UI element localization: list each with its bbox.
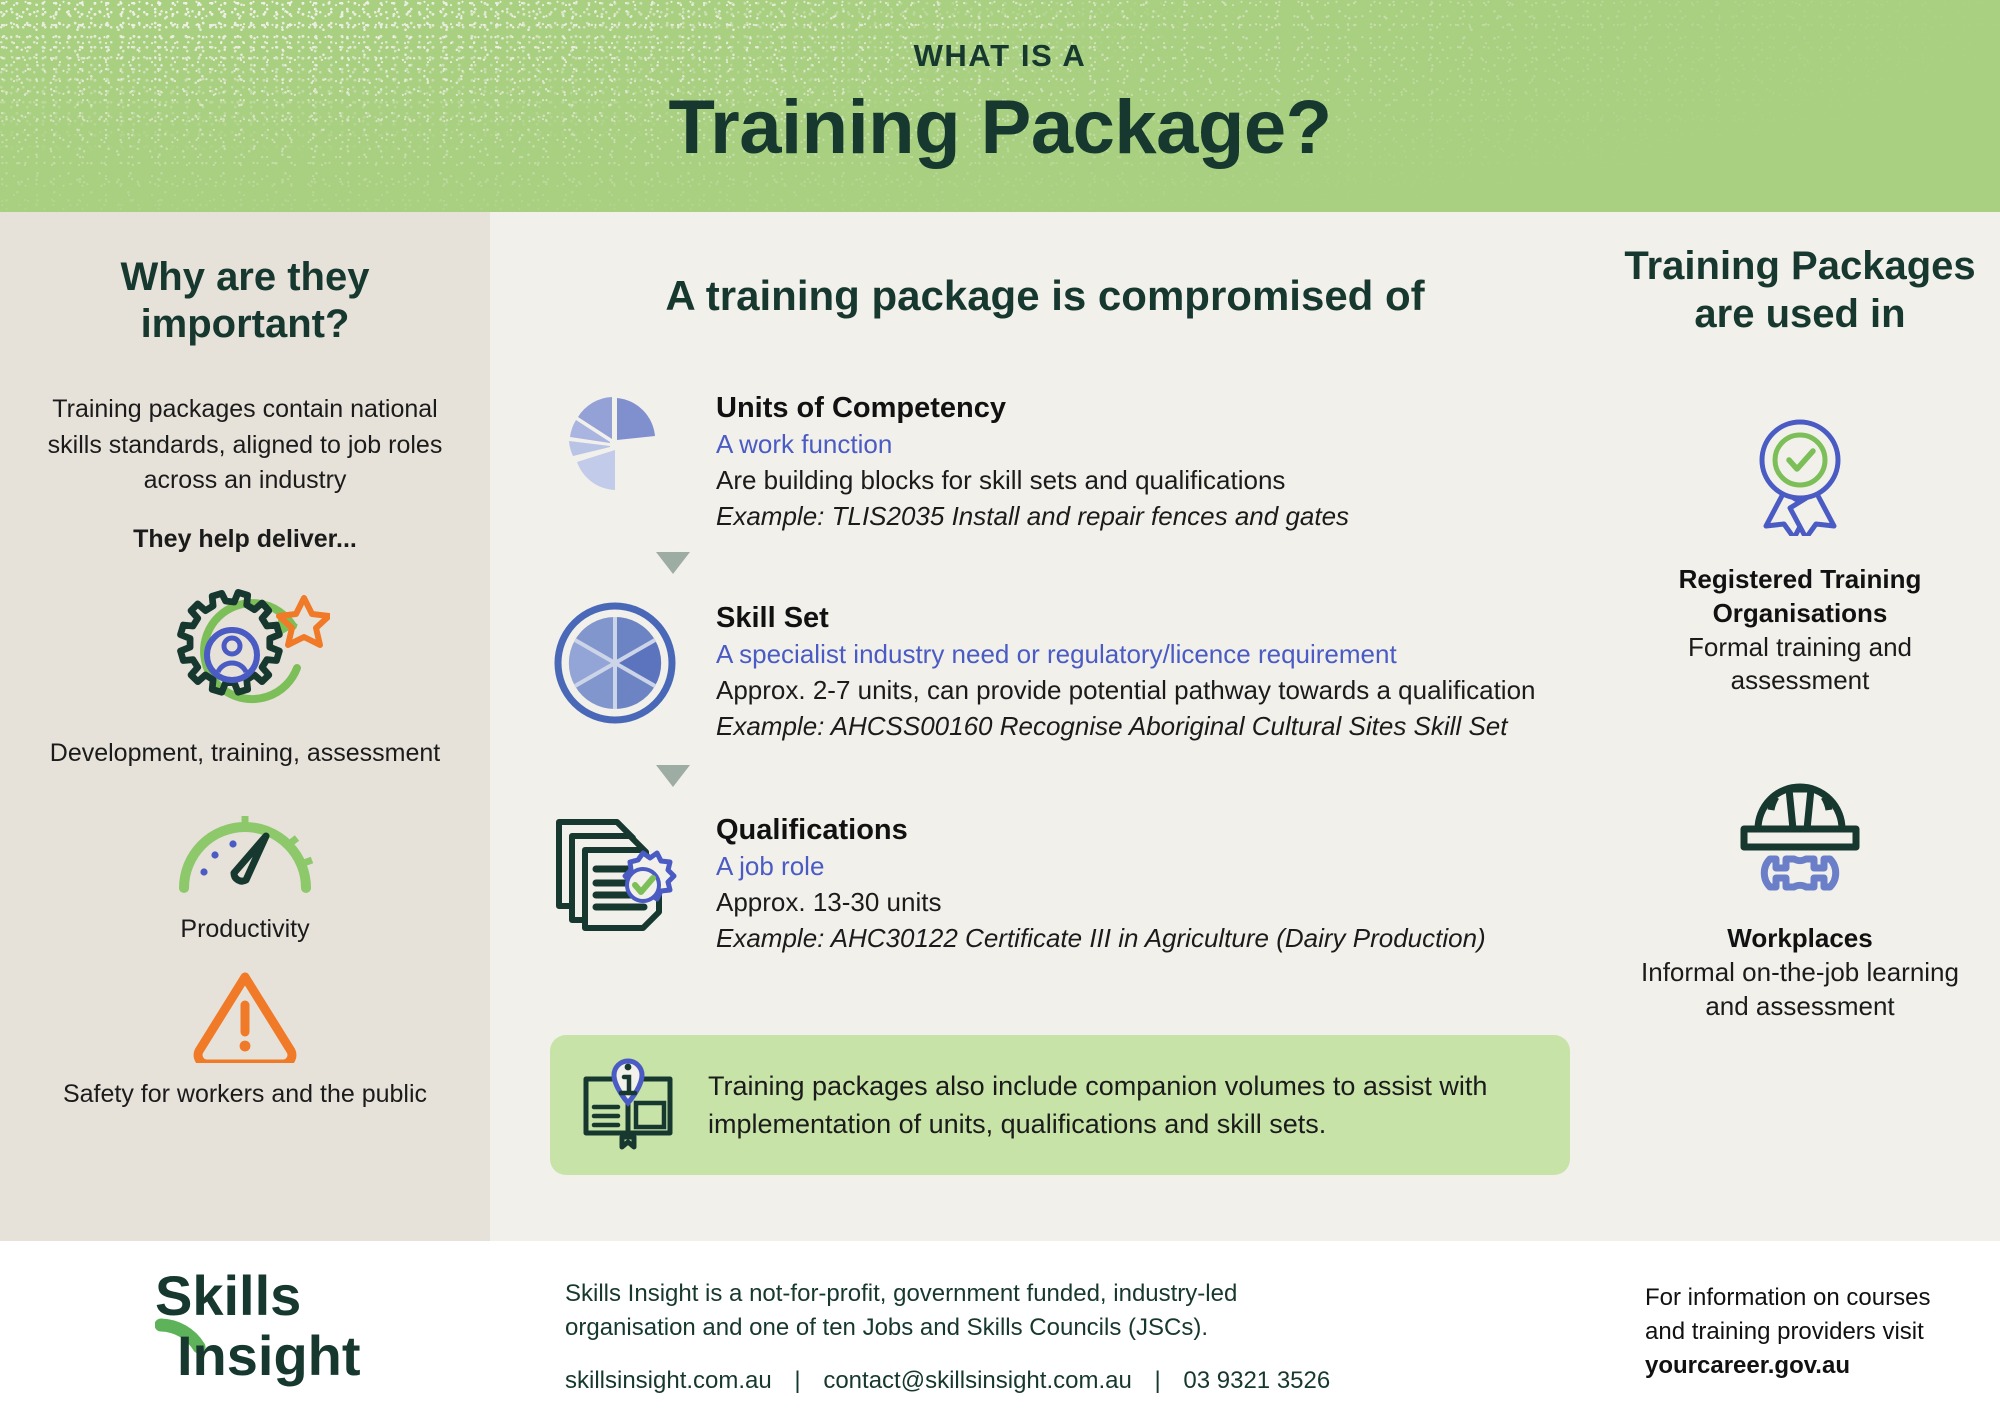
right-column-title: Training Packages are used in: [1620, 242, 1980, 338]
open-book-info-icon: [580, 1055, 676, 1156]
block-example: Example: TLIS2035 Install and repair fen…: [716, 499, 1570, 535]
hardhat-wrench-icon: [1620, 767, 1980, 900]
footer-cta-text: For information on courses and training …: [1645, 1284, 1930, 1345]
right-item-body: Informal on-the-job learning and assessm…: [1620, 956, 1980, 1024]
left-item-safety: Safety for workers and the public: [30, 967, 460, 1111]
header-kicker: WHAT IS A: [0, 38, 2000, 74]
middle-column-title: A training package is compromised of: [490, 272, 1600, 320]
left-column-title: Why are they important?: [30, 254, 460, 348]
footer-middle: Skills Insight is a not-for-profit, gove…: [565, 1277, 1355, 1395]
footer-cta: For information on courses and training …: [1645, 1281, 1975, 1383]
header-banner: WHAT IS A Training Package?: [0, 0, 2000, 212]
block-body: Are building blocks for skill sets and q…: [716, 463, 1570, 499]
middle-column: A training package is compromised of Uni…: [490, 212, 1600, 1241]
block-example: Example: AHC30122 Certificate III in Agr…: [716, 921, 1570, 957]
warning-triangle-icon: [30, 967, 460, 1068]
right-column: Training Packages are used in Registered…: [1600, 212, 2000, 1241]
segmented-circle-icon: [550, 600, 680, 731]
footer-cta-link[interactable]: yourcareer.gov.au: [1645, 1352, 1850, 1379]
gear-person-refresh-star-icon: [30, 582, 460, 727]
block-units-of-competency: Units of Competency A work function Are …: [550, 390, 1570, 535]
flow-arrow-down-icon: [656, 765, 690, 787]
block-subtitle: A specialist industry need or regulatory…: [716, 637, 1570, 673]
block-subtitle: A job role: [716, 849, 1570, 885]
block-body: Approx. 2-7 units, can provide potential…: [716, 673, 1570, 709]
block-heading: Skill Set: [716, 600, 1570, 637]
block-skill-set: Skill Set A specialist industry need or …: [550, 600, 1570, 745]
block-heading: Units of Competency: [716, 390, 1570, 427]
certificate-documents-icon: [550, 812, 680, 941]
flow-arrow-down-icon: [656, 552, 690, 574]
block-body: Approx. 13-30 units: [716, 885, 1570, 921]
logo-line1: Skills: [155, 1269, 301, 1327]
left-item-caption: Productivity: [30, 913, 460, 946]
footer-description: Skills Insight is a not-for-profit, gove…: [565, 1277, 1355, 1345]
page-title: Training Package?: [0, 84, 2000, 171]
footer-separator: |: [778, 1367, 816, 1394]
left-item-productivity: Productivity: [30, 802, 460, 946]
exploded-pie-chart-icon: [550, 390, 680, 499]
right-item-heading: Registered Training Organisations: [1620, 563, 1980, 631]
left-column-deliver-label: They help deliver...: [30, 525, 460, 554]
left-item-development: Development, training, assessment: [30, 582, 460, 770]
callout-text: Training packages also include companion…: [708, 1067, 1540, 1144]
infographic-poster: WHAT IS A Training Package? Why are they…: [0, 0, 2000, 1414]
skills-insight-logo: Skills Insight: [155, 1269, 405, 1392]
footer-contact-row: skillsinsight.com.au | contact@skillsins…: [565, 1367, 1355, 1395]
left-item-caption: Development, training, assessment: [30, 737, 460, 770]
award-ribbon-check-icon: [1620, 412, 1980, 541]
footer-website-link[interactable]: skillsinsight.com.au: [565, 1367, 772, 1394]
footer: Skills Insight Skills Insight is a not-f…: [0, 1241, 2000, 1414]
block-heading: Qualifications: [716, 812, 1570, 849]
left-column: Why are they important? Training package…: [0, 212, 490, 1241]
block-example: Example: AHCSS00160 Recognise Aboriginal…: [716, 709, 1570, 745]
left-item-caption: Safety for workers and the public: [30, 1078, 460, 1111]
block-subtitle: A work function: [716, 427, 1570, 463]
right-item-heading: Workplaces: [1620, 922, 1980, 956]
footer-separator: |: [1138, 1367, 1176, 1394]
companion-volumes-callout: Training packages also include companion…: [550, 1035, 1570, 1175]
right-item-body: Formal training and assessment: [1620, 631, 1980, 699]
footer-phone: 03 9321 3526: [1183, 1367, 1330, 1394]
logo-line2: Insight: [177, 1324, 361, 1387]
footer-email-link[interactable]: contact@skillsinsight.com.au: [823, 1367, 1131, 1394]
left-column-paragraph: Training packages contain national skill…: [30, 392, 460, 499]
right-item-workplaces: Workplaces Informal on-the-job learning …: [1620, 767, 1980, 1023]
gauge-productivity-icon: [30, 802, 460, 903]
right-item-rto: Registered Training Organisations Formal…: [1620, 412, 1980, 698]
block-qualifications: Qualifications A job role Approx. 13-30 …: [550, 812, 1570, 957]
